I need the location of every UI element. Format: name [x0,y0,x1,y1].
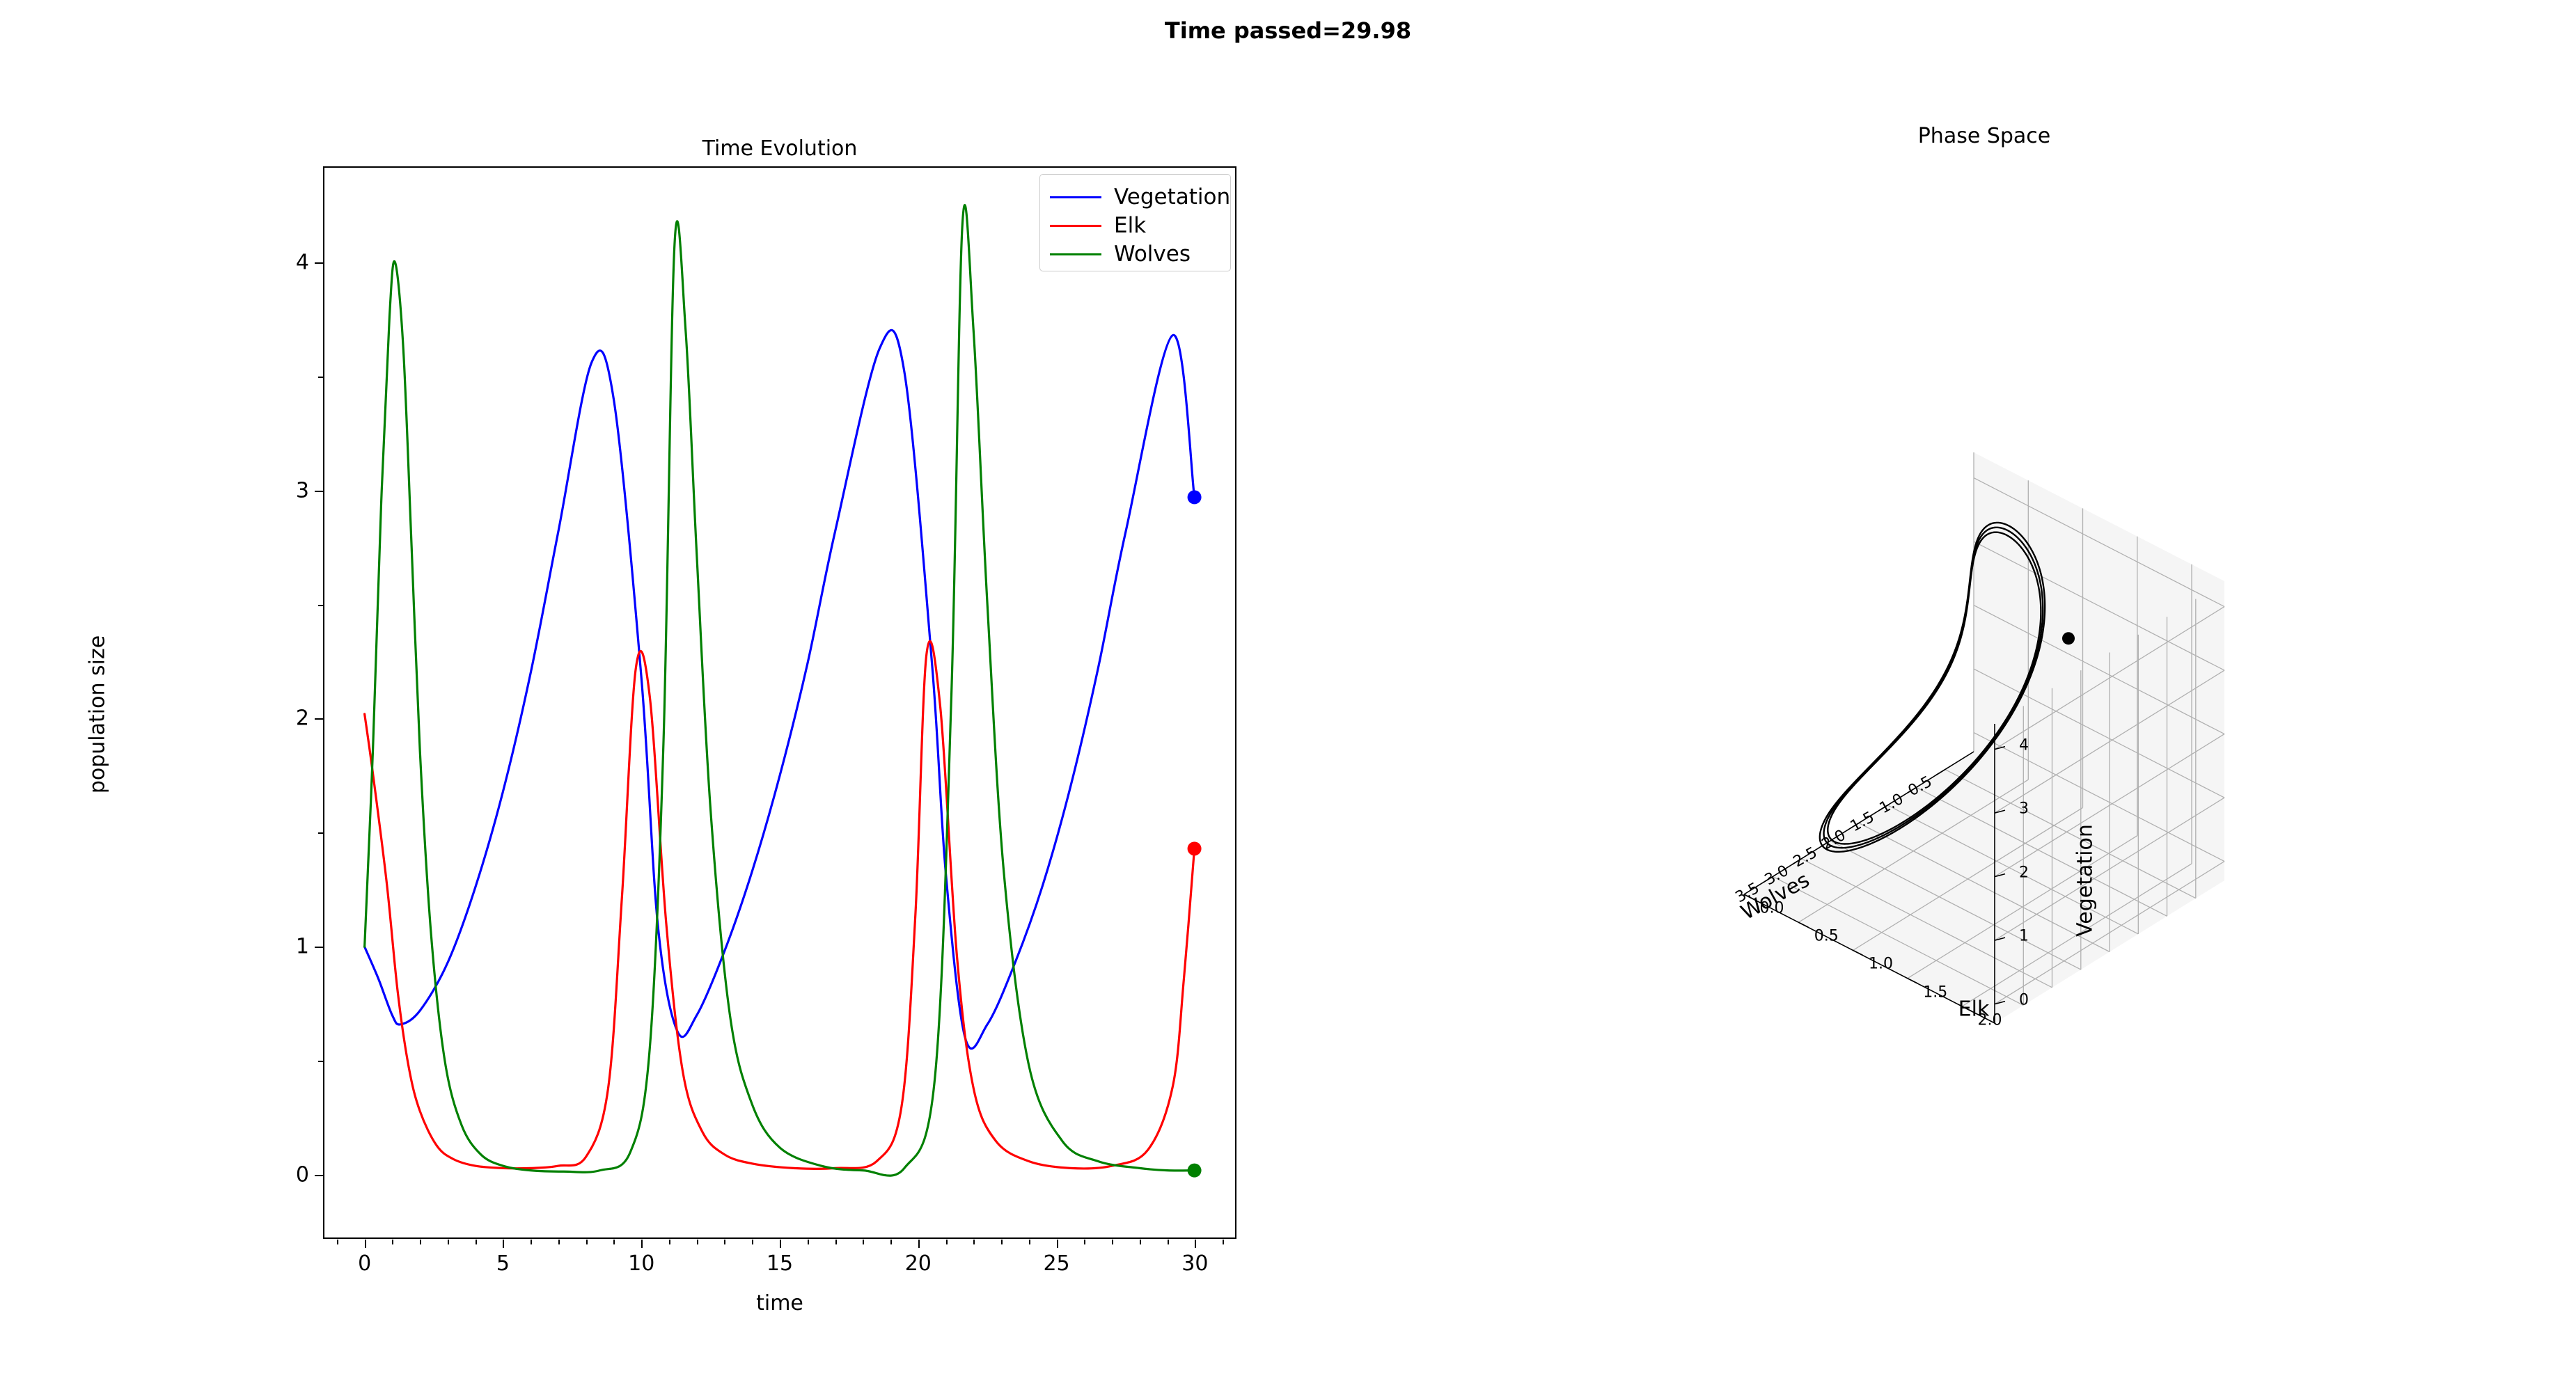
y-tick [315,1175,323,1176]
x-tick-minor [531,1240,532,1244]
legend-swatch-wolves [1050,253,1101,255]
x-tick-minor [835,1240,837,1244]
figure-canvas: Time passed=29.98 Time Evolution time po… [0,0,2576,1392]
legend[interactable]: Vegetation Elk Wolves [1039,174,1231,271]
x-tick [780,1240,781,1248]
figure-suptitle: Time passed=29.98 [0,17,2576,44]
x-tick-minor [808,1240,809,1244]
x-tick-minor [1223,1240,1224,1244]
phase-current-marker [2062,632,2075,644]
tick-label-vegetation: 2 [2019,864,2029,881]
x-tick [503,1240,504,1248]
time-evolution-axes [323,166,1236,1239]
legend-item-elk[interactable]: Elk [1050,212,1220,240]
tick-label-vegetation: 0 [2019,991,2029,1009]
right-panel-title: Phase Space [1497,124,2472,148]
x-tick-minor [337,1240,338,1244]
y-tick-label: 2 [246,706,309,731]
y-tick [315,947,323,948]
x-tick-label: 5 [496,1251,510,1276]
x-tick-minor [697,1240,698,1244]
x-tick-label: 0 [358,1251,371,1276]
endpoint-marker-elk [1188,841,1202,855]
x-tick-label: 25 [1043,1251,1069,1276]
legend-label-elk: Elk [1114,215,1146,237]
tick-label-vegetation: 4 [2019,736,2029,754]
x-tick [1057,1240,1058,1248]
x-tick [365,1240,366,1248]
legend-item-vegetation[interactable]: Vegetation [1050,183,1220,212]
phase-space-axes [1497,209,2472,1218]
x-tick-minor [752,1240,753,1244]
curve-elk [365,641,1195,1169]
x-tick-minor [973,1240,975,1244]
x-tick-label: 20 [905,1251,932,1276]
y-tick-minor [318,377,323,378]
y-tick [315,718,323,720]
x-tick-label: 10 [628,1251,654,1276]
y-tick-label: 4 [246,250,309,274]
x-tick-minor [1140,1240,1141,1244]
x-tick-minor [558,1240,560,1244]
tick-label-vegetation: 1 [2019,928,2029,945]
legend-label-vegetation: Vegetation [1114,187,1230,208]
x-tick-label: 15 [767,1251,793,1276]
x-tick-minor [1112,1240,1113,1244]
y-axis-label: population size [86,576,110,854]
y-tick-label: 1 [246,935,309,959]
phase-space-3d [1497,209,2472,1218]
x-tick [1195,1240,1196,1248]
x-tick-minor [476,1240,477,1244]
x-tick-minor [890,1240,892,1244]
y-tick-label: 3 [246,478,309,503]
x-tick-minor [392,1240,393,1244]
x-tick-minor [1084,1240,1085,1244]
legend-item-wolves[interactable]: Wolves [1050,240,1220,269]
x-tick-minor [863,1240,864,1244]
x-tick-minor [724,1240,725,1244]
legend-swatch-vegetation [1050,196,1101,198]
y-tick-minor [318,832,323,834]
curve-wolves [365,205,1195,1176]
endpoint-marker-vegetation [1188,490,1202,504]
x-tick-minor [613,1240,615,1244]
x-tick-minor [1001,1240,1003,1244]
y-tick [315,491,323,492]
axis-title-elk: Elk [1958,997,1990,1021]
y-tick [315,262,323,264]
curve-vegetation [365,330,1195,1048]
x-tick-label: 30 [1181,1251,1208,1276]
tick-label-elk: 1.0 [1869,956,1893,973]
x-tick-minor [420,1240,421,1244]
y-tick-label: 0 [246,1163,309,1187]
x-tick-minor [586,1240,588,1244]
x-tick [918,1240,920,1248]
left-panel-title: Time Evolution [323,136,1236,161]
tick-label-elk: 0.5 [1814,928,1839,945]
x-tick [641,1240,643,1248]
x-tick-minor [669,1240,670,1244]
x-tick-minor [448,1240,449,1244]
x-axis-label: time [323,1291,1236,1315]
tick-label-elk: 1.5 [1923,983,1947,1001]
legend-label-wolves: Wolves [1114,244,1191,265]
time-series-curves [323,166,1236,1239]
tick-label-vegetation: 3 [2019,800,2029,818]
endpoint-marker-wolves [1188,1164,1202,1178]
y-tick-minor [318,1061,323,1062]
legend-swatch-elk [1050,225,1101,227]
x-tick-minor [1029,1240,1030,1244]
axis-title-vegetation: Vegetation [2073,824,2098,937]
x-tick-minor [1168,1240,1169,1244]
x-tick-minor [946,1240,948,1244]
y-tick-minor [318,605,323,606]
